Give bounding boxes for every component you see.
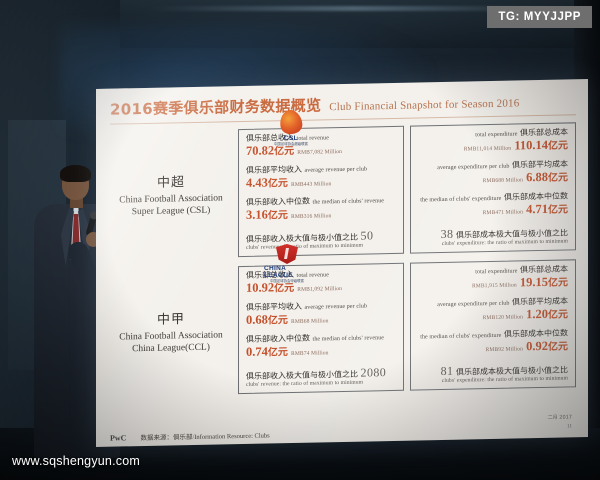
slide-title-en: Club Financial Snapshot for Season 2016 (329, 97, 519, 113)
ccl-badge-sublabel: 中国足球协会甲级联赛 (270, 280, 304, 284)
financial-grid: 中超 China Football Association Super Leag… (110, 122, 576, 396)
ratio-number: 38 (441, 226, 454, 240)
metric-average-revenue: 俱乐部平均收入 average revenue per club 0.68亿元 … (246, 301, 396, 327)
csl-badge-label: CSL (284, 135, 298, 142)
league-label-ccl: 中甲 China Football Association China Leag… (110, 266, 232, 396)
ratio-number: 81 (441, 363, 454, 377)
pwc-logo: PwC (110, 433, 126, 442)
league-name-cn: 中超 (157, 171, 185, 191)
metric-label-cn: 俱乐部收入中位数 (246, 334, 310, 344)
metric-average-revenue: 俱乐部平均收入 average revenue per club 4.43亿元 … (246, 164, 396, 190)
ratio-expenditure: 81 俱乐部成本极大值与极小值之比 clubs' expenditure: th… (418, 362, 568, 384)
metric-label-cn: 俱乐部平均成本 (512, 297, 568, 307)
metric-value-en: RMB7,082 Million (297, 149, 342, 156)
csl-flame-icon (278, 108, 303, 135)
league-name-en: China Football Association China League(… (112, 330, 230, 356)
ratio-number: 2080 (361, 365, 387, 380)
metric-label-cn: 俱乐部收入中位数 (246, 197, 310, 207)
metric-value-en: RMB443 Million (291, 181, 331, 188)
ratio-label-cn: 俱乐部成本极大值与极小值之比 (456, 228, 568, 239)
metric-value-en: RMB74 Million (291, 351, 329, 358)
metric-label-cn: 俱乐部成本中位数 (504, 192, 568, 202)
league-row: 中甲 China Football Association China Leag… (110, 259, 576, 396)
slide-page-number: 11 (567, 424, 572, 429)
metric-value-en: RMB688 Million (483, 178, 523, 185)
league-label-csl: 中超 China Football Association Super Leag… (110, 129, 232, 259)
metric-unit: 亿元 (268, 210, 288, 221)
csl-badge-sublabel: 中国足球协会超级联赛 (274, 143, 308, 147)
metric-value: 6.88 (526, 170, 548, 184)
speaker-hair (60, 165, 91, 182)
ratio-expenditure: 38 俱乐部成本极大值与极小值之比 clubs' expenditure: th… (418, 225, 568, 247)
ratio-revenue: 俱乐部收入极大值与极小值之比 2080 clubs' revenue: the … (246, 366, 396, 388)
ratio-number: 50 (361, 228, 374, 242)
slide-title: 2016赛季俱乐部财务数据概览 Club Financial Snapshot … (110, 89, 576, 124)
metric-value-en: RMB92 Million (485, 347, 523, 354)
metric-average-expenditure: average expenditure per club 俱乐部平均成本 RMB… (418, 161, 568, 187)
metric-label-en: average revenue per club (305, 167, 368, 174)
metric-unit: 亿元 (274, 283, 294, 294)
tg-watermark-badge: TG: MYYJJPP (487, 6, 592, 28)
league-name-en: China Football Association Super League … (112, 193, 230, 219)
metric-value: 1.20 (526, 307, 548, 321)
data-source-cn: 数据来源：俱乐部 (140, 433, 192, 442)
ratio-label-cn: 俱乐部收入极大值与极小值之比 (246, 232, 358, 243)
metric-value-en: RMB120 Million (483, 315, 523, 322)
metric-label-en: average revenue per club (305, 304, 368, 311)
metric-unit: 亿元 (548, 342, 568, 353)
screenshot-stage: 2016赛季俱乐部财务数据概览 Club Financial Snapshot … (0, 0, 600, 480)
metric-value-en: RMB316 Million (291, 214, 331, 221)
metric-median-revenue: 俱乐部收入中位数 the median of clubs' revenue 3.… (246, 196, 396, 222)
metric-label-en: total expenditure (475, 268, 517, 275)
metric-value: 110.14 (514, 138, 548, 153)
metric-median-expenditure: the median of clubs' expenditure 俱乐部成本中位… (418, 193, 568, 219)
site-watermark: www.sqshengyun.com (12, 454, 140, 468)
metric-value: 0.92 (526, 339, 548, 353)
metric-label-en: the median of clubs' revenue (313, 199, 385, 206)
slide-date: 二月 2017 (548, 413, 572, 420)
metric-value: 4.43 (246, 176, 268, 190)
metric-average-expenditure: average expenditure per club 俱乐部平均成本 RMB… (418, 298, 568, 324)
metric-value-en: RMB1,092 Million (297, 286, 342, 293)
metric-value: 0.74 (246, 345, 268, 359)
metric-value-en: RMB68 Million (291, 318, 329, 325)
csl-league-badge: CSL 中国足球协会超级联赛 (268, 108, 314, 148)
expenditure-panel-ccl: total expenditure 俱乐部总成本 RMB1,915 Millio… (410, 259, 576, 390)
metric-label-cn: 俱乐部总成本 (520, 127, 568, 137)
expenditure-panel-csl: total expenditure 俱乐部总成本 RMB11,014 Milli… (410, 122, 576, 253)
metric-total-expenditure: total expenditure 俱乐部总成本 RMB1,915 Millio… (418, 265, 568, 291)
metric-label-cn: 俱乐部平均成本 (512, 160, 568, 170)
revenue-panel-csl: 俱乐部总收入 total revenue 70.82亿元 RMB7,082 Mi… (238, 126, 404, 257)
league-row: 中超 China Football Association Super Leag… (110, 122, 576, 259)
metric-label-en: total expenditure (475, 131, 517, 138)
ccl-shield-icon (276, 244, 298, 264)
revenue-panel-ccl: 俱乐部总收入 total revenue 10.92亿元 RMB1,092 Mi… (238, 263, 404, 394)
metric-value: 3.16 (246, 208, 268, 222)
data-source-note: 数据来源：俱乐部/Information Resource: Clubs (140, 429, 269, 442)
metric-unit: 亿元 (268, 347, 288, 358)
metric-median-expenditure: the median of clubs' expenditure 俱乐部成本中位… (418, 330, 568, 356)
metric-unit: 亿元 (548, 173, 568, 184)
metric-value: 0.68 (246, 313, 268, 327)
ccl-league-badge: CHINA LEAGUE 中国足球协会甲级联赛 (264, 244, 310, 284)
metric-label-cn: 俱乐部总成本 (520, 264, 568, 274)
metric-median-revenue: 俱乐部收入中位数 the median of clubs' revenue 0.… (246, 333, 396, 359)
metric-label-cn: 俱乐部成本中位数 (504, 329, 568, 339)
metric-label-en: the median of clubs' revenue (313, 336, 385, 343)
ratio-label-cn: 俱乐部收入极大值与极小值之比 (246, 369, 358, 380)
league-name-cn: 中甲 (157, 308, 185, 328)
presentation-slide: 2016赛季俱乐部财务数据概览 Club Financial Snapshot … (96, 79, 588, 447)
metric-value-en: RMB11,014 Million (464, 146, 512, 153)
projection-screen: 2016赛季俱乐部财务数据概览 Club Financial Snapshot … (96, 79, 588, 447)
metric-label-cn: 俱乐部平均收入 (246, 302, 302, 312)
metric-unit: 亿元 (268, 315, 288, 326)
metric-unit: 亿元 (268, 178, 288, 189)
metric-unit: 亿元 (548, 310, 568, 321)
metric-value: 4.71 (526, 202, 548, 216)
metric-value-en: RMB1,915 Million (472, 282, 517, 289)
ratio-label-cn: 俱乐部成本极大值与极小值之比 (456, 365, 568, 376)
metric-value-en: RMB471 Million (483, 210, 523, 217)
metric-label-cn: 俱乐部平均收入 (246, 165, 302, 175)
metric-unit: 亿元 (548, 277, 568, 288)
data-source-en: /Information Resource: Clubs (192, 432, 269, 441)
ccl-badge-label: CHINA LEAGUE (264, 265, 310, 279)
metric-unit: 亿元 (548, 140, 568, 151)
metric-total-expenditure: total expenditure 俱乐部总成本 RMB11,014 Milli… (418, 128, 568, 154)
metric-value: 19.15 (520, 275, 548, 290)
metric-unit: 亿元 (548, 205, 568, 216)
